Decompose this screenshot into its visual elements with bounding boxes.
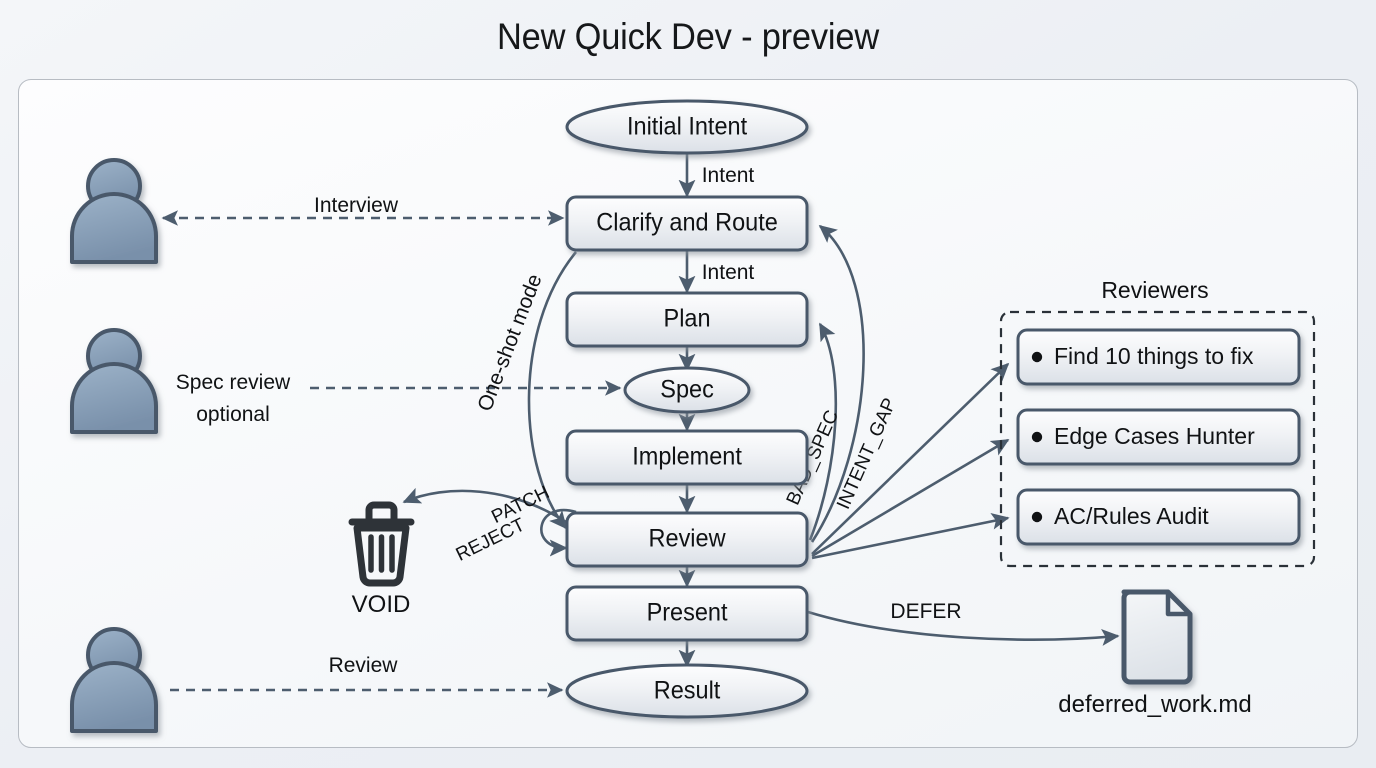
document-icon — [1124, 592, 1190, 682]
edge-label-spec-review-1: Spec review — [176, 371, 291, 394]
actor-icon-bottom — [72, 629, 156, 731]
actor-body-icon-2 — [72, 364, 156, 432]
edge-label-intent-second: Intent — [702, 261, 755, 284]
actor-body-icon-3 — [72, 663, 156, 731]
node-label-review: Review — [649, 525, 726, 553]
edge-defer — [808, 612, 1118, 640]
node-spec[interactable]: Spec — [625, 368, 749, 412]
document-caption: deferred_work.md — [1058, 691, 1251, 718]
flow-diagram: Intent Intent Interview Spec review opti… — [0, 0, 1376, 768]
reviewer-item-2[interactable]: Edge Cases Hunter — [1018, 410, 1299, 464]
node-clarify-and-route[interactable]: Clarify and Route — [567, 197, 807, 250]
node-plan[interactable]: Plan — [567, 293, 807, 346]
trash-icon — [352, 505, 411, 583]
bullet-icon-3 — [1032, 512, 1042, 522]
bullet-icon-2 — [1032, 432, 1042, 442]
reviewer-item-3[interactable]: AC/Rules Audit — [1018, 490, 1299, 544]
node-review[interactable]: Review — [567, 513, 807, 566]
reviewer-label-2: Edge Cases Hunter — [1054, 423, 1255, 449]
edge-label-reject: REJECT — [453, 514, 529, 565]
node-label-implement: Implement — [632, 443, 742, 471]
node-initial-intent[interactable]: Initial Intent — [567, 101, 807, 153]
edge-label-intent-top: Intent — [702, 164, 755, 187]
reviewer-label-1: Find 10 things to fix — [1054, 343, 1254, 369]
trash-caption: VOID — [352, 591, 411, 618]
node-present[interactable]: Present — [567, 587, 807, 640]
diagram-canvas: New Quick Dev - preview — [0, 0, 1376, 768]
reviewer-label-3: AC/Rules Audit — [1054, 503, 1209, 529]
reviewer-item-1[interactable]: Find 10 things to fix — [1018, 330, 1299, 384]
actor-icon-top — [72, 160, 156, 262]
actor-icon-middle — [72, 330, 156, 432]
node-result[interactable]: Result — [567, 665, 807, 717]
cluster-title-reviewers: Reviewers — [1101, 277, 1208, 303]
edge-label-review-actor: Review — [329, 654, 399, 677]
bullet-icon-1 — [1032, 352, 1042, 362]
document-page-shape — [1124, 592, 1190, 682]
edge-label-defer: DEFER — [890, 600, 961, 623]
edge-review-to-reviewer-1 — [812, 364, 1008, 554]
edge-label-intent-gap: INTENT_GAP — [833, 395, 901, 513]
node-label-initial-intent: Initial Intent — [627, 113, 747, 141]
node-label-plan: Plan — [664, 305, 711, 333]
node-implement[interactable]: Implement — [567, 431, 807, 484]
node-label-present: Present — [647, 599, 728, 627]
actor-body-icon-1 — [72, 194, 156, 262]
node-label-result: Result — [654, 677, 721, 705]
edge-label-interview: Interview — [314, 194, 399, 217]
node-label-clarify-and-route: Clarify and Route — [596, 209, 777, 237]
node-label-spec: Spec — [660, 376, 714, 404]
edge-label-spec-review-2: optional — [196, 403, 270, 426]
